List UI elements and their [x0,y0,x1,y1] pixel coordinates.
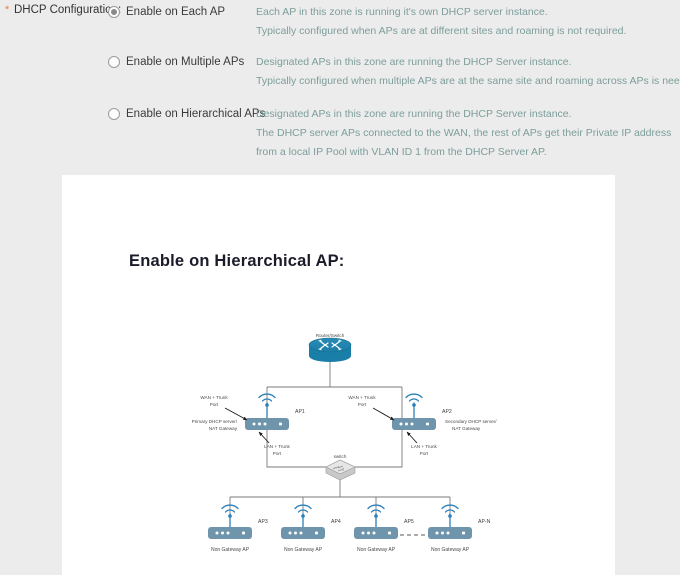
radio-label-hierarchical-aps: Enable on Hierarchical APs [126,108,265,120]
ap2-lan-arrow [407,432,417,443]
link-ap2-lan-to-switch [354,430,402,467]
description-multiple-aps: Designated APs in this zone are running … [256,53,680,91]
ap1-wan-label-line2: Port [210,402,219,407]
radio-option-enable-on-hierarchical-aps[interactable]: Enable on Hierarchical APs [108,105,265,123]
access-point-ap4: AP4 Non Gateway AP [281,505,341,553]
description-line: Typically configured when APs are at dif… [256,22,680,41]
ap1-role-line1: Primary DHCP server/ [192,419,238,424]
radio-button-each-ap[interactable] [108,6,120,18]
required-field-marker: * [5,4,9,16]
ap5-name: AP5 [404,519,414,525]
ap1-role-line2: NAT Gateway [209,426,238,431]
switch-node: switch [326,454,355,480]
ap1-lan-arrow [259,432,269,443]
radio-button-multiple-aps[interactable] [108,56,120,68]
apn-name: AP-N [478,519,491,525]
ap2-name: AP2 [442,409,452,415]
router-switch-node: Router/Switch [309,333,351,362]
dhcp-configuration-form: * DHCP Configuration: Enable on Each AP … [0,0,680,175]
switch-label: switch [334,454,347,459]
hierarchical-ap-diagram-panel: Enable on Hierarchical AP: [62,175,615,575]
access-point-apn: AP-N Non Gateway AP [428,505,491,553]
description-line: Typically configured when multiple APs a… [256,72,680,91]
ap1-name: AP1 [295,409,305,415]
access-point-ap5: AP5 Non Gateway AP [354,505,414,553]
ap2-wan-arrow [373,408,394,420]
network-topology-diagram: Router/Switch [62,175,615,575]
radio-label-each-ap: Enable on Each AP [126,6,225,18]
description-line: Each AP in this zone is running it's own… [256,3,680,22]
ap1-wan-label-line1: WAN + Trunk [200,395,228,400]
ap2-role-line2: NAT Gateway [452,426,481,431]
apn-role: Non Gateway AP [431,547,470,553]
access-point-ap2: AP2 WAN + Trunk Port LAN + Trunk Port Se… [348,394,497,456]
ap2-lan-label-line1: LAN + Trunk [411,444,437,449]
description-line: The DHCP server APs connected to the WAN… [256,124,680,162]
ap5-role: Non Gateway AP [357,547,396,553]
ap2-wan-label-line2: Port [358,402,367,407]
radio-option-enable-on-each-ap[interactable]: Enable on Each AP [108,3,225,21]
access-point-ap1: AP1 WAN + Trunk Port LAN + Trunk Port Pr… [192,394,305,456]
ap4-role: Non Gateway AP [284,547,323,553]
description-each-ap: Each AP in this zone is running it's own… [256,3,680,41]
ap4-name: AP4 [331,519,341,525]
description-line: Designated APs in this zone are running … [256,105,680,124]
radio-button-hierarchical-aps[interactable] [108,108,120,120]
ap1-lan-label-line1: LAN + Trunk [264,444,290,449]
ap2-wan-label-line1: WAN + Trunk [348,395,376,400]
ap1-lan-label-line2: Port [273,451,282,456]
ap2-lan-label-line2: Port [420,451,429,456]
router-switch-label: Router/Switch [316,333,345,338]
access-point-ap3: AP3 Non Gateway AP [208,505,268,553]
ap2-role-line1: Secondary DHCP server/ [445,419,497,424]
ap3-role: Non Gateway AP [211,547,250,553]
ap3-name: AP3 [258,519,268,525]
radio-option-enable-on-multiple-aps[interactable]: Enable on Multiple APs [108,53,244,71]
radio-label-multiple-aps: Enable on Multiple APs [126,56,244,68]
description-line: Designated APs in this zone are running … [256,53,680,72]
description-hierarchical-aps: Designated APs in this zone are running … [256,105,680,162]
dhcp-configuration-label: DHCP Configuration: [14,4,121,16]
